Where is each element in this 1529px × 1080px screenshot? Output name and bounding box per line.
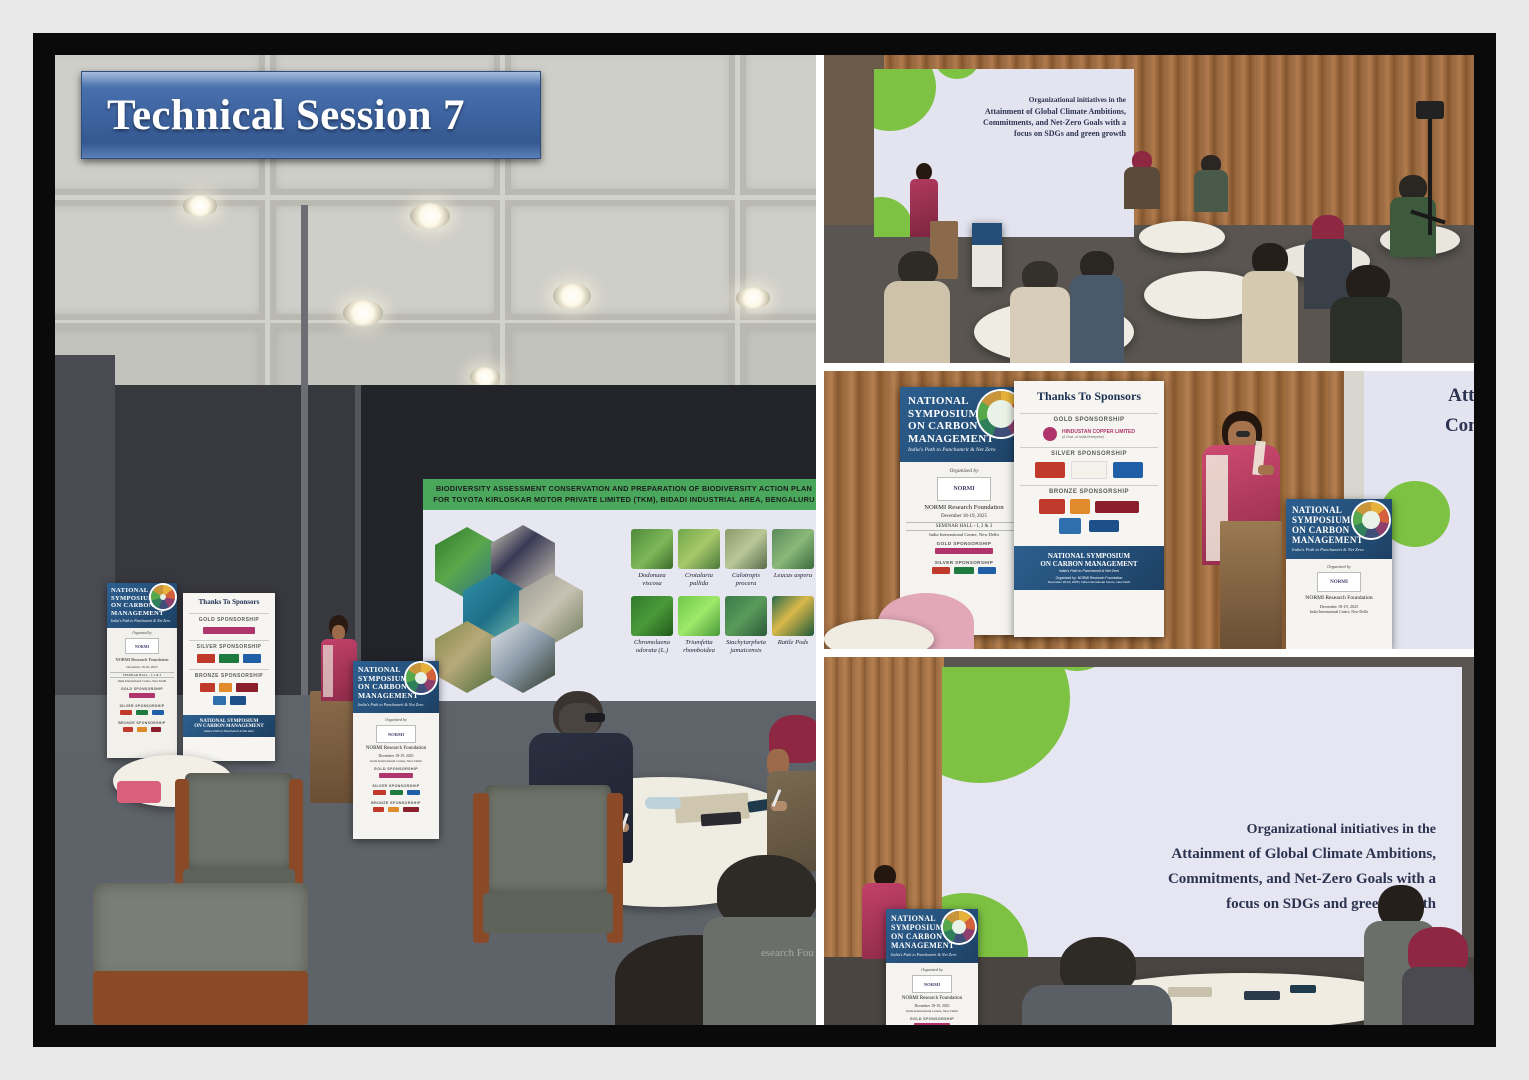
normi-logo: NORMI	[1317, 572, 1361, 592]
ceiling-light	[410, 203, 450, 229]
main-projection-screen: BIODIVERSITY ASSESSMENT CONSERVATION AND…	[423, 479, 816, 701]
podium	[1220, 521, 1282, 649]
organized-by-label: Organized by	[357, 717, 435, 722]
sponsors-heading: Thanks To Sponsors	[1014, 381, 1164, 409]
sponsor-tier-silver: SILVER SPONSORSHIP	[110, 704, 174, 708]
foundation-name: NORMI Research Foundation	[357, 746, 435, 751]
audience-member	[884, 251, 950, 363]
plant-label: Chromolaena odorata (L.)	[631, 639, 673, 655]
sponsors-board: Thanks To Sponsors GOLD SPONSORSHIP HIND…	[1014, 381, 1164, 637]
plant-label: Triumfetta rhomboidea	[678, 639, 720, 655]
symposium-banner: NATIONAL SYMPOSIUM ON CARBON MANAGEMENT …	[107, 583, 177, 758]
event-venue: India International Centre, New Delhi	[906, 532, 1022, 537]
ceiling-light	[736, 287, 770, 309]
plant-label: Crotalaria pallida	[678, 572, 720, 588]
sponsors-board: Thanks To Sponsors GOLD SPONSORSHIP SILV…	[183, 593, 275, 761]
session-title: Technical Session 7	[81, 71, 541, 159]
plant-cell: Dodonaea viscosa	[631, 529, 673, 588]
plant-cell: Stachytarpheta jamaicensis	[725, 596, 767, 655]
banner-title-line4: MANAGEMENT	[358, 692, 434, 701]
slide-line-4: focus on SDGs and green growth	[944, 128, 1126, 139]
footer-line2: ON CARBON MANAGEMENT	[1019, 560, 1159, 568]
cropped-slide-line1: Atta	[1424, 381, 1474, 411]
audience-member	[1022, 937, 1172, 1025]
sponsor-tier-gold: GOLD SPONSORSHIP	[1020, 413, 1158, 423]
footer-line1: NATIONAL SYMPOSIUM	[1019, 552, 1159, 560]
plant-cell: Chromolaena odorata (L.)	[631, 596, 673, 655]
speaker-podium-photo: Atta Com NATIONAL SYMPOSIUM ON CARBON MA…	[824, 371, 1474, 649]
foundation-name: NORMI Research Foundation	[1291, 595, 1387, 601]
normi-logo: NORMI	[937, 477, 991, 501]
organized-by-label: Organized by	[906, 468, 1022, 474]
cropped-slide-line2: Com	[1424, 411, 1474, 441]
audience-member	[767, 715, 816, 875]
event-venue: India International Centre, New Delhi	[1291, 610, 1387, 614]
event-dates: December 18-19, 2025	[357, 754, 435, 758]
main-presentation-photo: BIODIVERSITY ASSESSMENT CONSERVATION AND…	[55, 55, 816, 1025]
audience-member	[1194, 155, 1228, 209]
audience-member	[1242, 243, 1298, 363]
sponsor-tier-gold: GOLD SPONSORSHIP	[189, 613, 269, 623]
normi-logo: NORMI	[125, 638, 159, 654]
audience-wide-photo: Organizational initiatives in the Attain…	[824, 55, 1474, 363]
ceiling-light	[183, 195, 217, 217]
sponsor-tier-silver: SILVER SPONSORSHIP	[189, 640, 269, 650]
sponsor-tier-bronze: BRONZE SPONSORSHIP	[1020, 485, 1158, 495]
sponsor-tier-silver: SILVER SPONSORSHIP	[1020, 447, 1158, 457]
banner-tagline: India's Path to Panchamrit & Net Zero	[111, 619, 173, 623]
event-dates: December 18-19, 2025	[110, 665, 174, 669]
audience-member	[1402, 927, 1474, 1025]
session-title-banner: Technical Session 7	[81, 71, 541, 159]
event-venue: India International Centre, New Delhi	[890, 1009, 974, 1013]
audience-member	[703, 855, 816, 1025]
footer-tagline: India's Path to Panchamrit & Net Zero	[1019, 569, 1159, 573]
symposium-banner: NATIONAL SYMPOSIUM ON CARBON MANAGEMENT …	[353, 661, 439, 839]
gold-sponsor-sub: (A Govt. of India Enterprise)	[1062, 435, 1135, 439]
organized-by-label: Organized by	[1291, 564, 1387, 569]
event-venue: India International Centre, New Delhi	[357, 759, 435, 763]
event-hall: SEMINAR HALL - I, 2 & 3	[906, 522, 1022, 531]
plant-label: Rattle Pods	[772, 639, 814, 647]
organized-by-label: Organized by	[110, 631, 174, 635]
slide-line-3: Commitments, and Net-Zero Goals with a	[944, 117, 1126, 128]
plant-label: Dodonaea viscosa	[631, 572, 673, 588]
banner-tagline: India's Path to Panchamrit & Net Zero	[1292, 547, 1386, 552]
foundation-name: NORMI Research Foundation	[906, 504, 1022, 511]
normi-logo: NORMI	[376, 725, 416, 743]
ceiling-light	[343, 300, 383, 326]
photo-collage: BIODIVERSITY ASSESSMENT CONSERVATION AND…	[33, 33, 1496, 1047]
slide-line-2: Attainment of Global Climate Ambitions,	[944, 106, 1126, 117]
plant-cell: Crotalaria pallida	[678, 529, 720, 588]
slide-title: BIODIVERSITY ASSESSMENT CONSERVATION AND…	[423, 479, 816, 510]
plant-label: Calotropis procera	[725, 572, 767, 588]
symposium-banner: NATIONAL SYMPOSIUM ON CARBON MANAGEMENT …	[886, 909, 978, 1025]
slide-line-2: Attainment of Global Climate Ambitions,	[996, 842, 1436, 867]
collage-grid: BIODIVERSITY ASSESSMENT CONSERVATION AND…	[55, 55, 1474, 1025]
banner-title-line4: MANAGEMENT	[111, 610, 173, 618]
symposium-banner: NATIONAL SYMPOSIUM ON CARBON MANAGEMENT …	[1286, 499, 1392, 649]
audience-member	[1330, 265, 1402, 363]
audience-member	[1124, 151, 1160, 207]
plant-cell: Calotropis procera	[725, 529, 767, 588]
banner-tagline: India's Path to Panchamrit & Net Zero	[358, 702, 434, 707]
plant-label: Leucas aspera	[772, 572, 814, 580]
foundation-name: NORMI Research Foundation	[890, 996, 974, 1001]
round-table	[1139, 221, 1225, 253]
footer-tagline: India's Path to Panchamrit & Net Zero	[188, 729, 270, 733]
sponsors-heading: Thanks To Sponsors	[183, 593, 275, 609]
plant-cell: Rattle Pods	[772, 596, 814, 655]
plant-label: Stachytarpheta jamaicensis	[725, 639, 767, 655]
slide-line-1: Organizational initiatives in the	[996, 817, 1436, 842]
plant-cell: Triumfetta rhomboidea	[678, 596, 720, 655]
event-hall: SEMINAR HALL - I, 2 & 3	[110, 672, 174, 678]
audience-member	[1070, 251, 1124, 363]
chair	[473, 785, 623, 981]
ceiling-light	[553, 283, 591, 309]
slide-closeup-photo: Organizational initiatives in the Attain…	[824, 657, 1474, 1025]
slide-line-1: Organizational initiatives in the	[944, 95, 1126, 106]
footer-venue: December 18-19, 2025 | India Internation…	[1019, 580, 1159, 584]
banner-tagline: India's Path to Panchamrit & Net Zero	[891, 952, 973, 957]
plant-cell: Leucas aspera	[772, 529, 814, 588]
event-dates: December 18-19, 2025	[1291, 604, 1387, 609]
event-venue: India International Centre, New Delhi	[110, 679, 174, 683]
organized-by-label: Organized by	[890, 967, 974, 972]
chair	[93, 883, 308, 1025]
foundation-name: NORMI Research Foundation	[110, 657, 174, 662]
banner-tagline: India's Path to Panchamrit & Net Zero	[908, 447, 1020, 453]
audience-member	[1010, 261, 1070, 363]
sponsor-tier-bronze: BRONZE SPONSORSHIP	[110, 721, 174, 725]
sponsor-tier-bronze: BRONZE SPONSORSHIP	[189, 669, 269, 679]
event-dates: December 18-19, 2025	[890, 1004, 974, 1008]
ceiling-light	[470, 367, 500, 387]
normi-logo: NORMI	[912, 975, 952, 993]
symposium-banner	[972, 223, 1002, 287]
event-dates: December 18-19, 2025	[906, 514, 1022, 519]
